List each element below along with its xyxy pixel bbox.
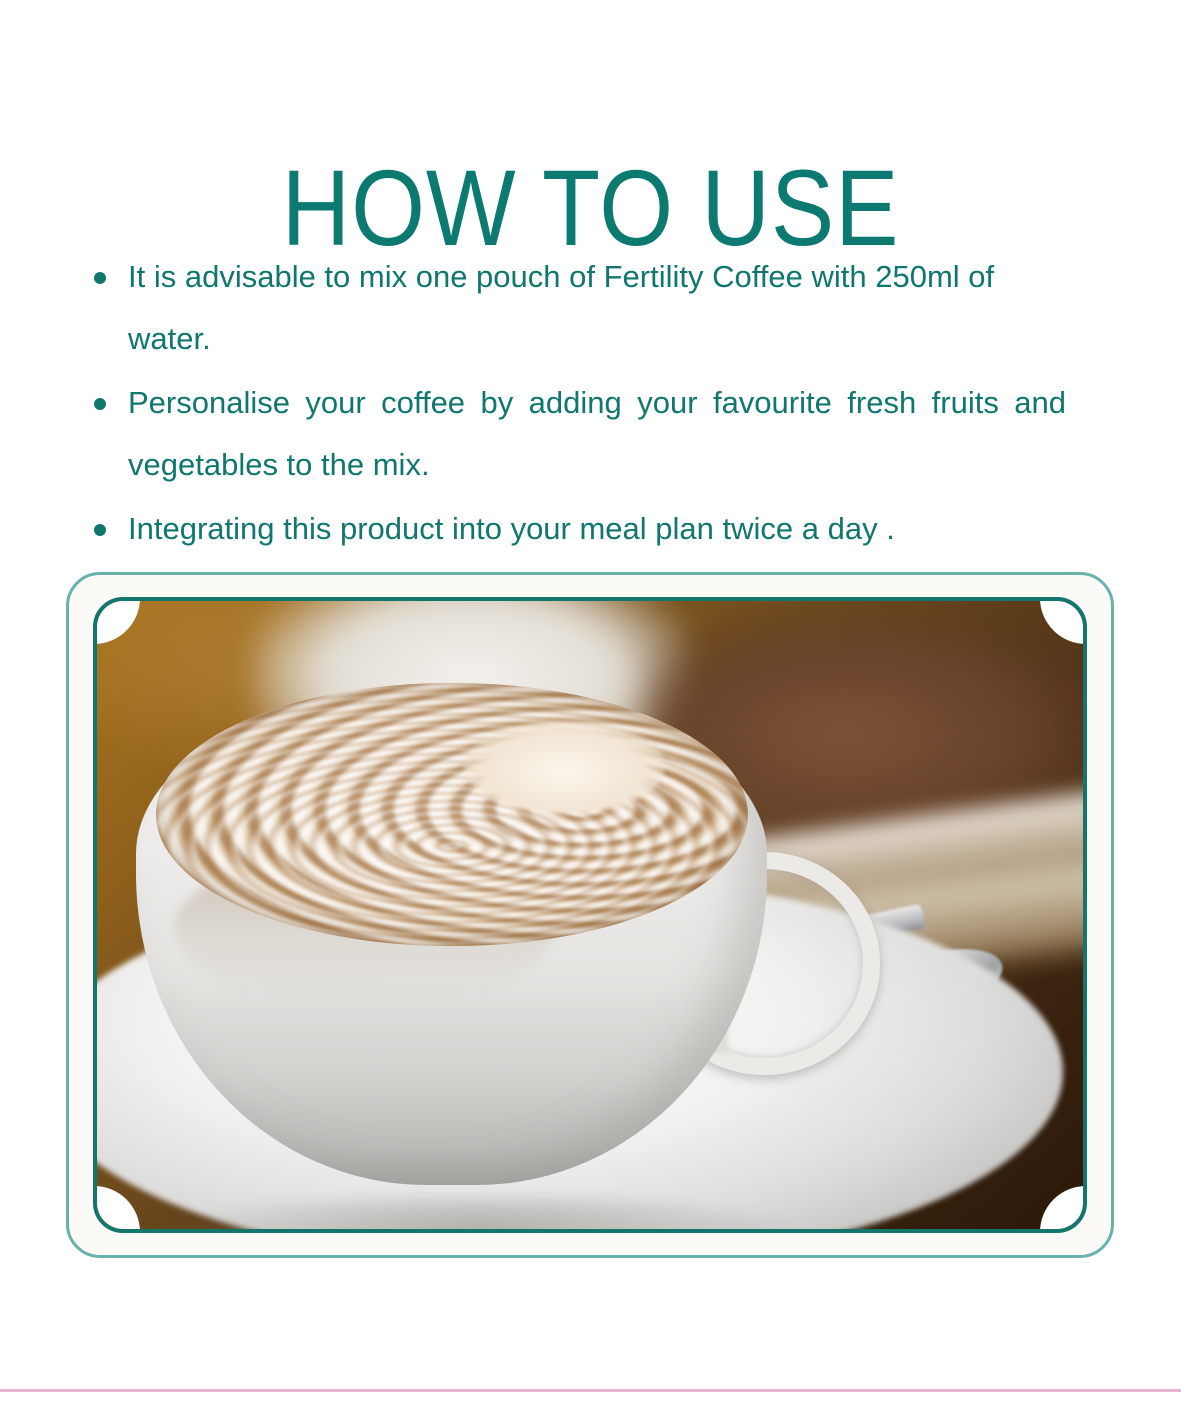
frame-inner-border (93, 597, 1087, 1233)
footer-divider (0, 1389, 1181, 1392)
crema-rim-shading (156, 683, 748, 947)
bullet-icon (94, 398, 106, 410)
how-to-use-page: HOW TO USE It is advisable to mix one po… (0, 0, 1181, 1402)
list-item: Integrating this product into your meal … (86, 498, 1066, 560)
list-item-text: It is advisable to mix one pouch of Fert… (128, 259, 994, 356)
bullet-icon (94, 272, 106, 284)
coffee-photo-frame (66, 572, 1114, 1258)
coffee-photo (97, 601, 1083, 1229)
list-item-text: Personalise your coffee by adding your f… (128, 372, 1066, 496)
coffee-surface (156, 683, 748, 947)
saucer-shadow (161, 1197, 797, 1233)
bullet-icon (94, 524, 106, 536)
usage-instructions-list: It is advisable to mix one pouch of Fert… (86, 246, 1066, 562)
list-item-text: Integrating this product into your meal … (128, 511, 895, 546)
list-item: It is advisable to mix one pouch of Fert… (86, 246, 1066, 370)
list-item: Personalise your coffee by adding your f… (86, 372, 1066, 496)
